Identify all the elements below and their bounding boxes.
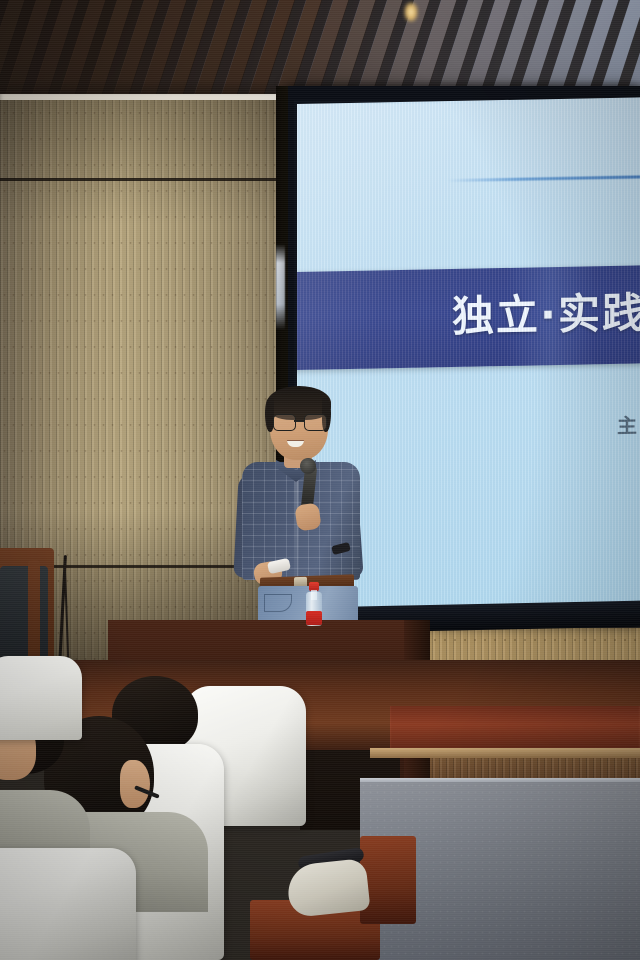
bottle-label (306, 611, 322, 625)
bag-on-seat (286, 858, 371, 918)
seat-far-left (0, 656, 82, 740)
seat-front-left-shade (0, 848, 136, 960)
wall-light-slit (276, 244, 285, 330)
glasses-icon (273, 414, 325, 429)
glasses-lens-right (304, 414, 327, 431)
slide-accent-line (447, 175, 640, 182)
audience-member-center-ear (120, 760, 150, 808)
wall-seam-upper (0, 178, 296, 181)
dark-chair-left (0, 566, 48, 658)
seat-wood-arm (360, 836, 416, 924)
slide-subtitle-text: 主 (617, 409, 637, 438)
ceiling-light-icon (404, 2, 418, 22)
presenter (232, 386, 372, 636)
conference-hall-photo: 独立·实践 主 (0, 0, 640, 960)
bottle-on-podium (306, 582, 322, 626)
stage-trim-strip (370, 748, 640, 758)
slide-title-text: 独立·实践 (452, 279, 640, 344)
glasses-bridge (294, 420, 304, 422)
glasses-lens-left (273, 414, 296, 431)
stage-red-shelf (390, 706, 640, 752)
presenter-hand-holding-mic (294, 502, 321, 531)
